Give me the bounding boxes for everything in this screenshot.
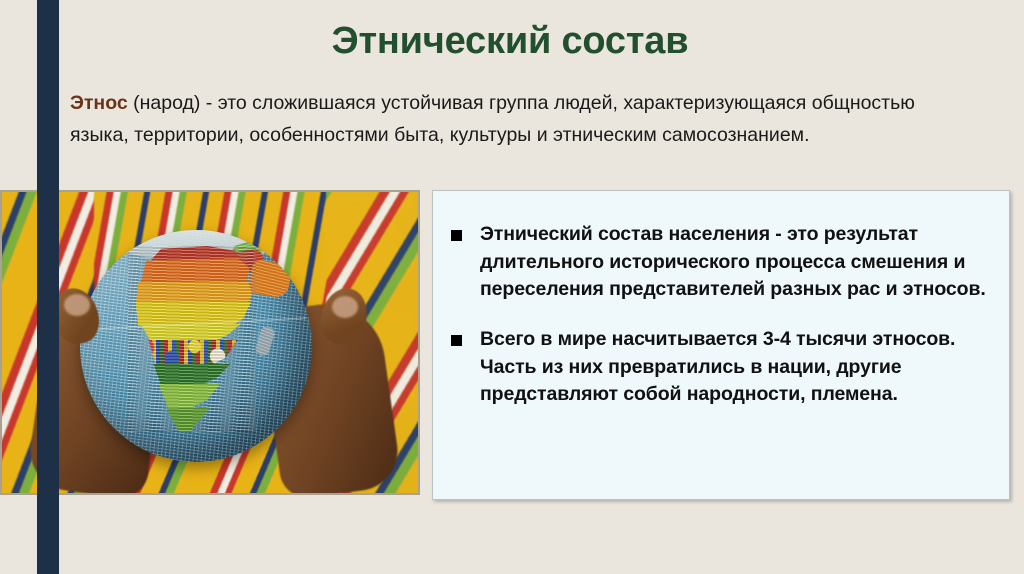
globe-photo-content [2, 192, 418, 493]
page-title: Этнический состав [60, 20, 960, 64]
list-item: Этнический состав населения - это резуль… [443, 221, 995, 304]
bullet-list: Этнический состав населения - это резуль… [443, 221, 995, 431]
content-box: Этнический состав населения - это резуль… [432, 190, 1010, 500]
slide: Этнический состав Этнос (народ) - это сл… [0, 0, 1024, 574]
africa-continent [128, 246, 256, 432]
intro-lead-term: Этнос [70, 92, 128, 114]
list-item: Всего в мире насчитывается 3-4 тысячи эт… [443, 326, 995, 409]
square-bullet-icon [451, 335, 462, 346]
left-accent-bar [37, 0, 59, 574]
left-thumbnail [64, 294, 90, 316]
beaded-globe [80, 230, 312, 462]
right-thumbnail [332, 296, 358, 318]
bullet-text: Этнический состав населения - это резуль… [480, 221, 995, 304]
bullet-text: Всего в мире насчитывается 3-4 тысячи эт… [480, 326, 995, 409]
africa-band-6-confetti [128, 340, 256, 366]
africa-band-8 [128, 384, 256, 410]
africa-band-9 [128, 408, 256, 432]
intro-paragraph: Этнос (народ) - это сложившаяся устойчив… [70, 88, 960, 151]
africa-band-7 [128, 364, 256, 386]
africa-band-2 [128, 258, 256, 284]
globe-photo [0, 190, 420, 495]
square-bullet-icon [451, 230, 462, 241]
africa-band-3 [128, 282, 256, 304]
africa-band-1 [128, 246, 256, 260]
intro-body-text: (народ) - это сложившаяся устойчивая гру… [70, 92, 915, 146]
